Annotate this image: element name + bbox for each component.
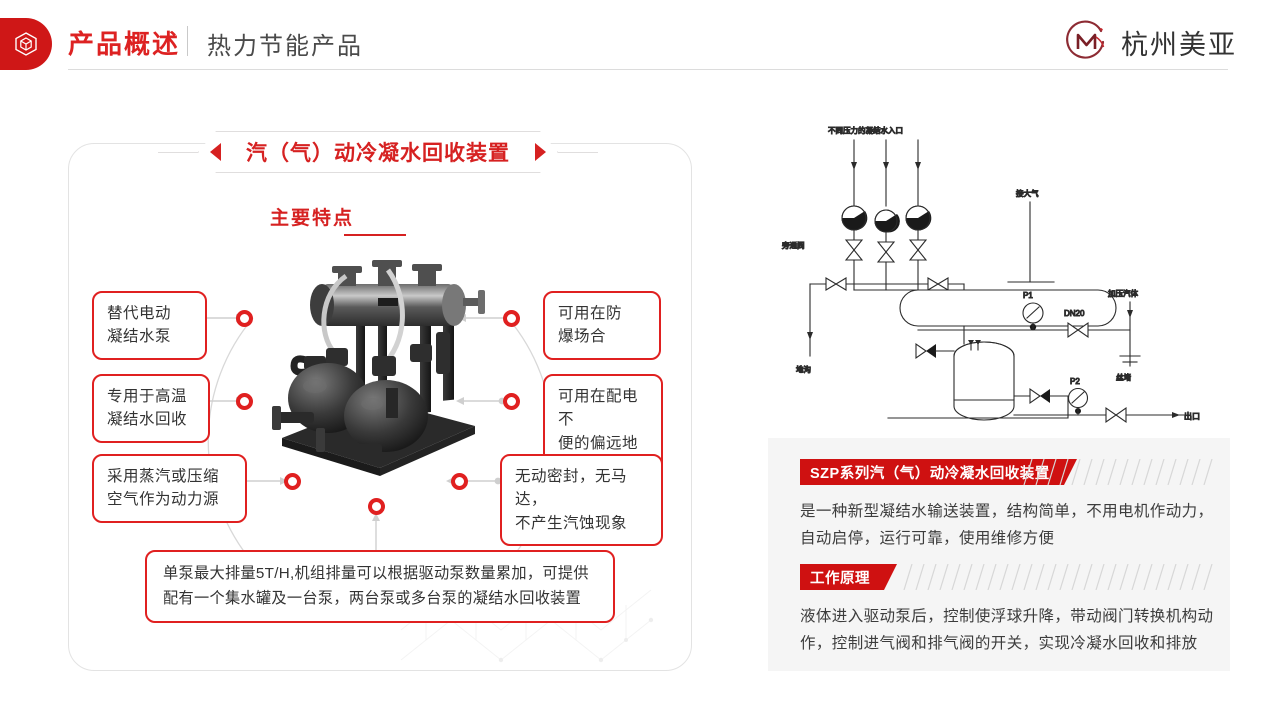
ribbon-title: 汽（气）动冷凝水回收装置 bbox=[246, 137, 510, 167]
arrow-right-icon bbox=[535, 143, 546, 161]
schematic-label-dn20: DN20 bbox=[1064, 309, 1085, 318]
section-principle-tag: 工作原理 bbox=[800, 564, 884, 590]
schematic-label-gas: 加压汽体 bbox=[1108, 288, 1138, 298]
page-title: 产品概述 bbox=[68, 24, 180, 61]
schematic-label-bypass: 旁通阀 bbox=[782, 240, 805, 250]
process-schematic: 不同压力的凝结水入口 bbox=[768, 118, 1230, 438]
feature-marker-2 bbox=[236, 393, 253, 410]
callout-left-1: 替代电动 凝结水泵 bbox=[92, 291, 207, 360]
header-rule bbox=[68, 69, 1228, 70]
brand-name: 杭州美亚 bbox=[1121, 23, 1237, 62]
section-ribbon: 汽（气）动冷凝水回收装置 bbox=[198, 131, 558, 173]
feature-marker-4 bbox=[503, 310, 520, 327]
schematic-label-outlet: 出口 bbox=[1184, 411, 1200, 421]
feature-marker-5 bbox=[503, 393, 520, 410]
feature-marker-7 bbox=[368, 498, 385, 515]
ribbon-line-left bbox=[158, 152, 198, 153]
section-principle: 工作原理 液体进入驱动泵后，控制使浮球升降，带动阀门转换机构动 作，控制进气阀和… bbox=[800, 564, 1216, 657]
section-szp-body: 是一种新型凝结水输送装置，结构简单，不用电机作动力， 自动启停，运行可靠，使用维… bbox=[800, 499, 1216, 552]
slide-page: 产品概述 热力节能产品 杭州美亚 bbox=[0, 0, 1285, 725]
schematic-label-plug: 丝堵 bbox=[1116, 372, 1132, 382]
schematic-label-p2: P2 bbox=[1070, 377, 1080, 386]
page-subtitle: 热力节能产品 bbox=[207, 26, 363, 61]
feature-marker-6 bbox=[451, 473, 468, 490]
feature-marker-1 bbox=[236, 310, 253, 327]
callout-right-1: 可用在防 爆场合 bbox=[543, 291, 661, 360]
schematic-label-atmosphere: 接大气 bbox=[1016, 188, 1039, 198]
callout-left-2: 专用于高温 凝结水回收 bbox=[92, 374, 210, 443]
product-photo bbox=[260, 248, 500, 486]
feature-heading: 主要特点 bbox=[0, 203, 624, 230]
section-szp-hatch bbox=[1016, 459, 1216, 485]
feature-marker-3 bbox=[284, 473, 301, 490]
section-principle-hatch bbox=[896, 564, 1216, 590]
feature-heading-underline bbox=[344, 234, 406, 236]
cube-hexagon-icon bbox=[0, 18, 52, 70]
section-principle-body: 液体进入驱动泵后，控制使浮球升降，带动阀门转换机构动 作，控制进气阀和排气阀的开… bbox=[800, 604, 1216, 657]
header-divider bbox=[187, 26, 188, 56]
arrow-left-icon bbox=[210, 143, 221, 161]
schematic-label-inlet: 不同压力的凝结水入口 bbox=[828, 125, 903, 135]
page-header: 产品概述 热力节能产品 杭州美亚 bbox=[0, 0, 1285, 88]
schematic-label-p1: P1 bbox=[1023, 291, 1033, 300]
meiya-m-circle-logo-icon bbox=[1063, 18, 1111, 66]
callout-right-3: 无动密封，无马达， 不产生汽蚀现象 bbox=[500, 454, 663, 546]
brand-logo: 杭州美亚 bbox=[1063, 18, 1237, 66]
callout-bottom: 单泵最大排量5T/H,机组排量可以根据驱动泵数量累加，可提供 配有一个集水罐及一… bbox=[145, 550, 615, 623]
section-szp: SZP系列汽（气）动冷凝水回收装置 是一种新型凝结水输送装置，结构简单，不用电机… bbox=[800, 459, 1216, 552]
schematic-label-drain: 地沟 bbox=[796, 364, 811, 374]
callout-left-3: 采用蒸汽或压缩 空气作为动力源 bbox=[92, 454, 247, 523]
ribbon-line-right bbox=[558, 152, 598, 153]
